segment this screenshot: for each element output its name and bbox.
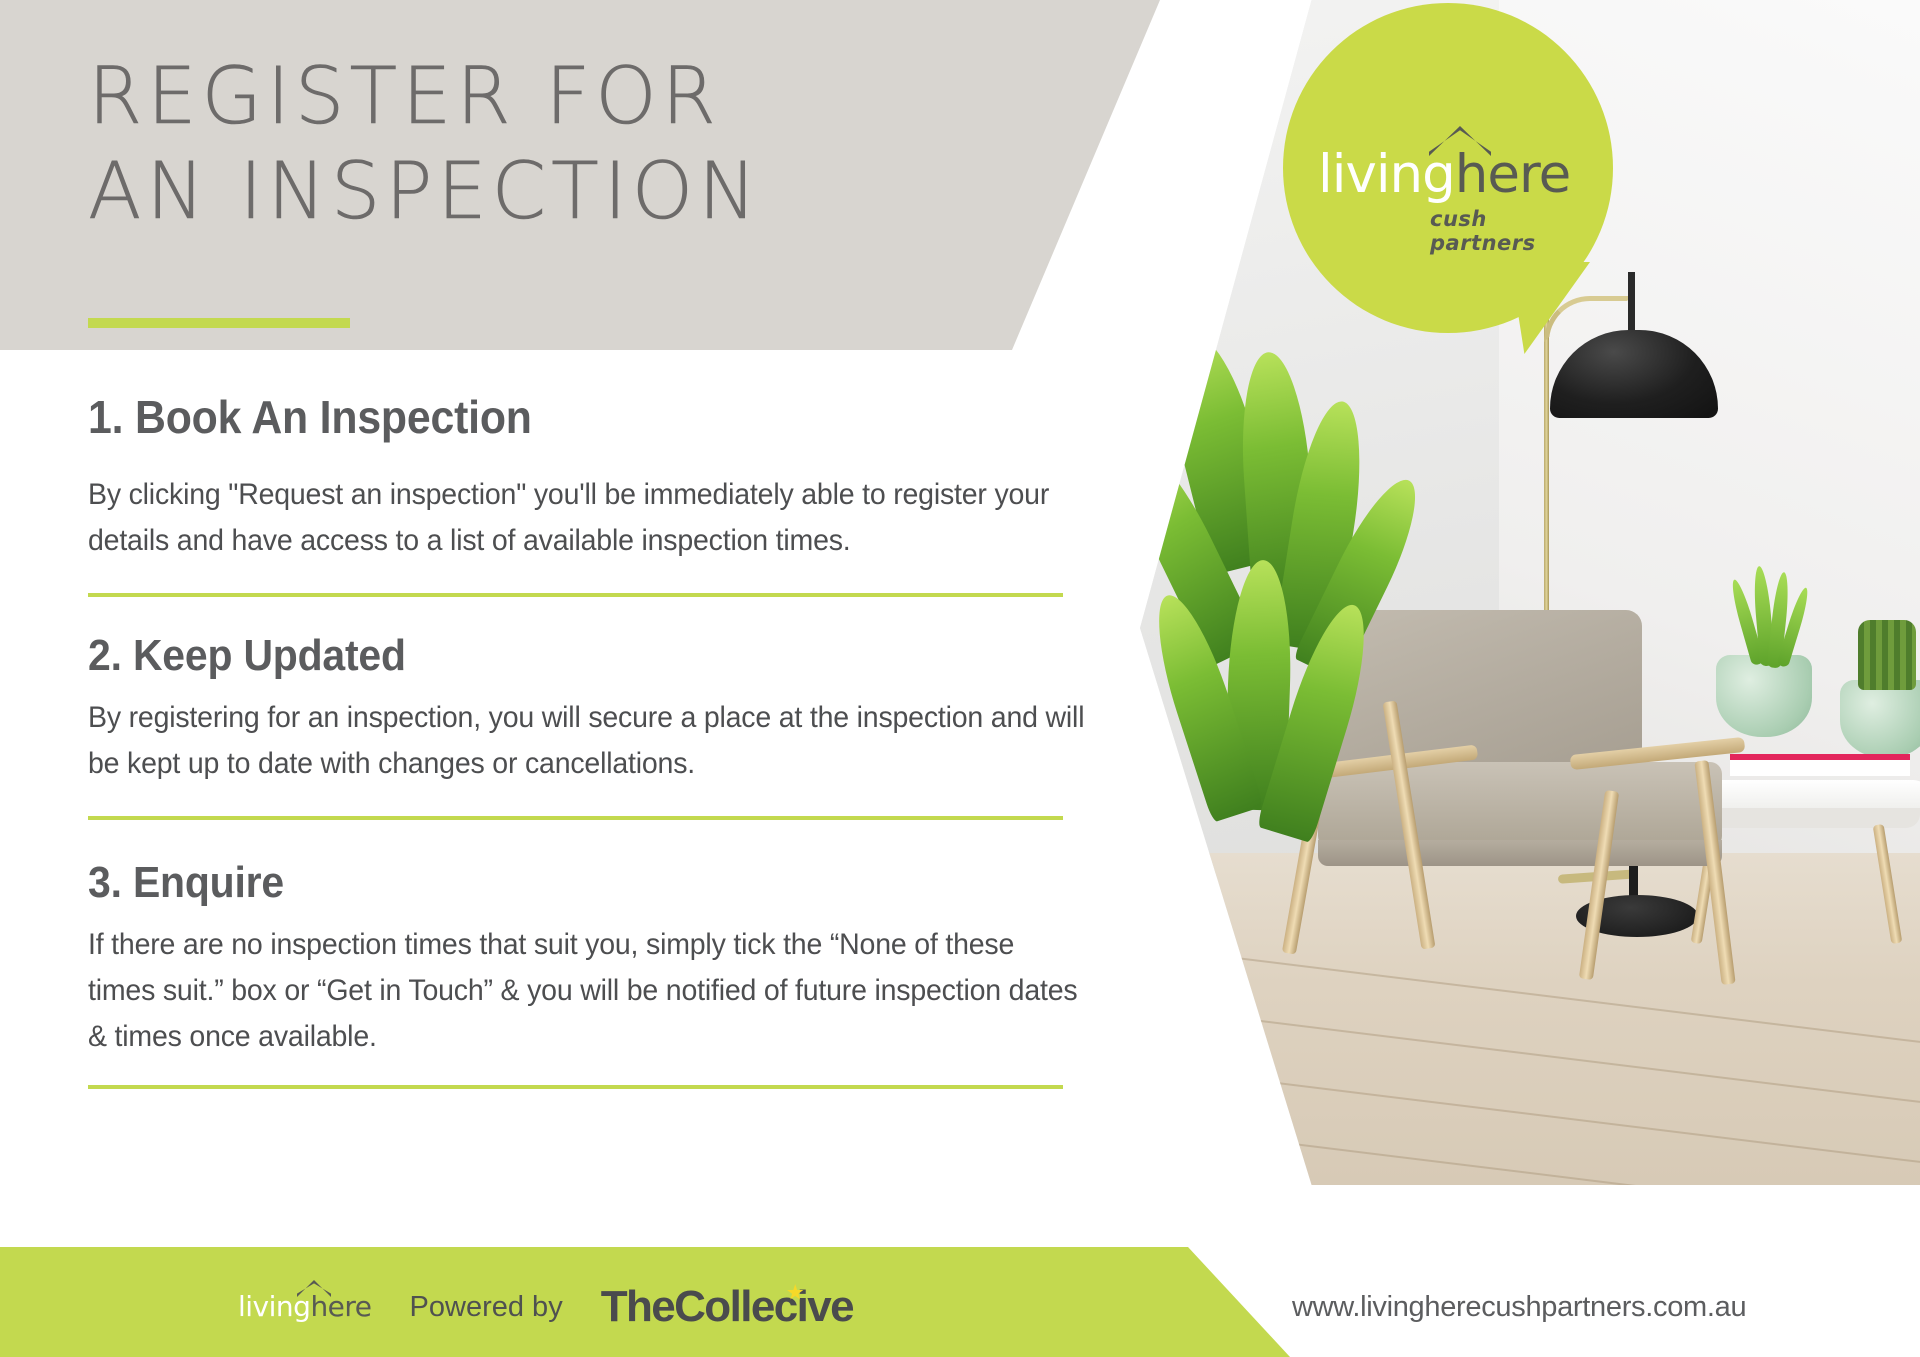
the-collective-name-tail: ive [797, 1282, 853, 1331]
step-1-divider [88, 593, 1063, 597]
page-title-line-2: AN INSPECTION [88, 145, 1108, 240]
step-item-2: 2. Keep Updated By registering for an in… [0, 631, 1140, 820]
book [1730, 760, 1910, 776]
step-1-heading: 1. Book An Inspection [88, 390, 1066, 444]
footer-logo-here: here [310, 1290, 371, 1323]
steps-list: 1. Book An Inspection By clicking "Reque… [0, 390, 1140, 1089]
step-2-heading: 2. Keep Updated [88, 631, 1066, 681]
step-item-1: 1. Book An Inspection By clicking "Reque… [0, 390, 1140, 597]
photo-floor [1140, 853, 1920, 1185]
the-collective-logo[interactable]: TheCollecive [601, 1282, 853, 1332]
step-3-heading: 3. Enquire [88, 858, 1066, 908]
the-collective-name: TheCollec [601, 1282, 797, 1331]
brand-logo-living: living [1318, 144, 1455, 205]
step-item-3: 3. Enquire If there are no inspection ti… [0, 858, 1140, 1089]
footer-branding: livinghere Powered by TheCollecive [238, 1282, 853, 1332]
armchair-seat-base [1318, 840, 1722, 866]
powered-by-label: Powered by [410, 1291, 563, 1324]
step-2-divider [88, 816, 1063, 820]
title-accent-rule [88, 318, 350, 328]
plant-pot-left [1716, 655, 1812, 737]
plant-pot-right [1840, 680, 1920, 758]
step-3-body: If there are no inspection times that su… [88, 922, 1087, 1059]
website-url[interactable]: www.livingherecushpartners.com.au [1292, 1291, 1746, 1324]
header-panel: REGISTER FOR AN INSPECTION [0, 0, 1160, 350]
brand-logo-here: here [1455, 144, 1570, 205]
brand-logo-tagline: cush partners [1430, 207, 1588, 255]
page-title: REGISTER FOR AN INSPECTION [88, 50, 1108, 240]
armchair-seat [1318, 762, 1722, 848]
step-2-body: By registering for an inspection, you wi… [88, 695, 1087, 786]
cactus [1858, 620, 1916, 690]
step-1-body: By clicking "Request an inspection" you'… [88, 472, 1087, 563]
step-3-divider [88, 1085, 1063, 1089]
page-title-line-1: REGISTER FOR [88, 50, 1108, 145]
brand-logo[interactable]: livinghere cush partners [1318, 148, 1588, 258]
footer-brand-logo[interactable]: livinghere [238, 1293, 372, 1321]
brand-logo-wordmark: livinghere [1318, 148, 1588, 201]
footer-logo-living: living [238, 1290, 310, 1323]
